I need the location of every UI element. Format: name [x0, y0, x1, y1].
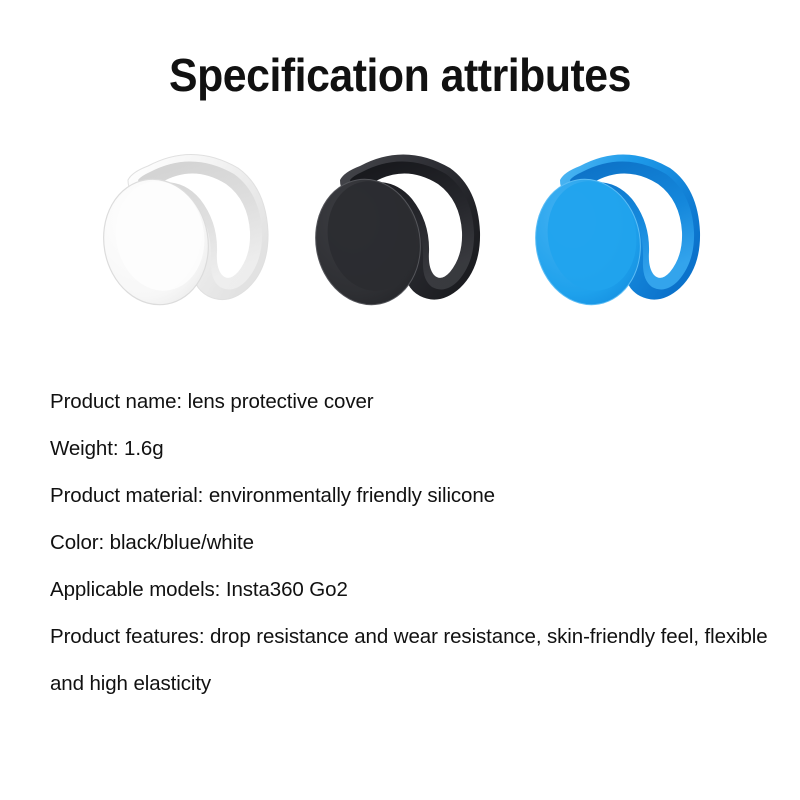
- black-cover-illustration: [300, 136, 510, 326]
- spec-product-material: Product material: environmentally friend…: [50, 472, 780, 519]
- product-spec-page: Specification attributes: [0, 0, 800, 800]
- blue-cover-illustration: [520, 136, 730, 326]
- spec-product-name: Product name: lens protective cover: [50, 378, 780, 425]
- spec-product-features: Product features: drop resistance and we…: [50, 613, 770, 707]
- white-cover-illustration: [88, 136, 298, 326]
- product-image-blue: [520, 136, 730, 326]
- product-image-row: [0, 128, 800, 328]
- spec-applicable-models: Applicable models: Insta360 Go2: [50, 566, 780, 613]
- spec-color: Color: black/blue/white: [50, 519, 780, 566]
- product-image-white: [88, 136, 298, 326]
- specification-list: Product name: lens protective cover Weig…: [50, 378, 780, 707]
- page-title: Specification attributes: [28, 48, 772, 102]
- product-image-black: [300, 136, 510, 326]
- spec-weight: Weight: 1.6g: [50, 425, 780, 472]
